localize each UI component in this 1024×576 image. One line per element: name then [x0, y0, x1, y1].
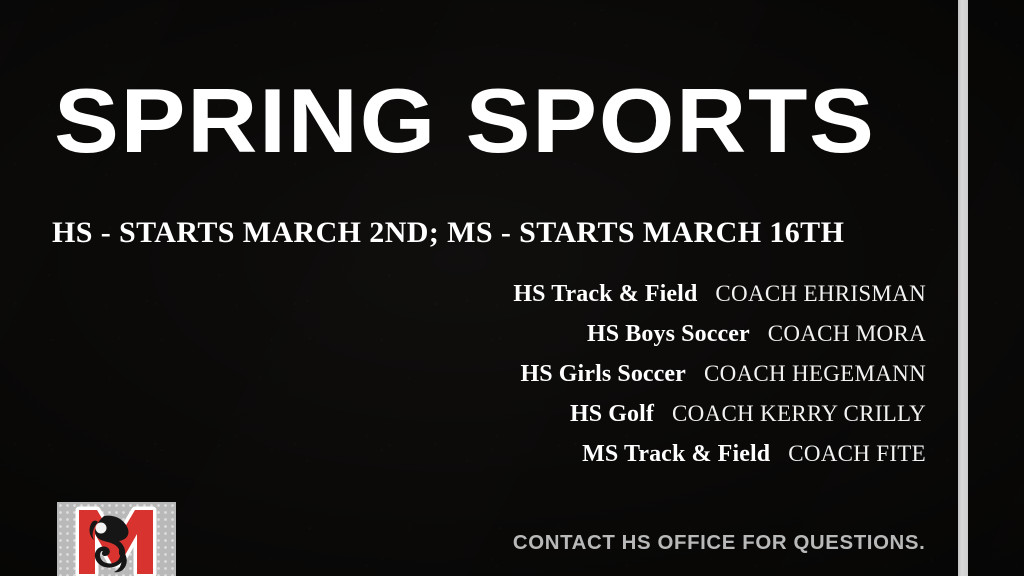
spring-sports-poster: SPRING SPORTS HS - STARTS MARCH 2ND; MS … [0, 0, 1024, 576]
sport-name: HS Girls Soccer [520, 361, 685, 388]
coach-name: COACH EHRISMAN [715, 281, 926, 307]
page-title: SPRING SPORTS [54, 79, 876, 165]
list-item: HS Boys Soccer COACH MORA [587, 321, 926, 355]
list-item: MS Track & Field COACH FITE [582, 441, 926, 475]
mustang-m-logo-icon [57, 502, 176, 576]
list-item: HS Track & Field COACH EHRISMAN [513, 281, 926, 315]
sport-name: HS Boys Soccer [587, 321, 750, 348]
school-logo [57, 502, 176, 576]
list-item: HS Golf COACH KERRY CRILLY [570, 401, 926, 435]
coach-name: COACH MORA [768, 321, 926, 347]
sports-list: HS Track & Field COACH EHRISMAN HS Boys … [300, 281, 926, 475]
list-item: HS Girls Soccer COACH HEGEMANN [520, 361, 926, 395]
coach-name: COACH HEGEMANN [704, 361, 926, 387]
contact-note: CONTACT HS OFFICE FOR QUESTIONS. [513, 532, 925, 555]
season-start-dates: HS - STARTS MARCH 2ND; MS - STARTS MARCH… [52, 216, 844, 250]
coach-name: COACH KERRY CRILLY [672, 401, 926, 427]
right-vertical-rule [958, 0, 968, 576]
sport-name: HS Track & Field [513, 281, 697, 308]
coach-name: COACH FITE [788, 441, 926, 467]
sport-name: HS Golf [570, 401, 654, 428]
sport-name: MS Track & Field [582, 441, 770, 468]
logo-eye-highlight [96, 523, 107, 534]
